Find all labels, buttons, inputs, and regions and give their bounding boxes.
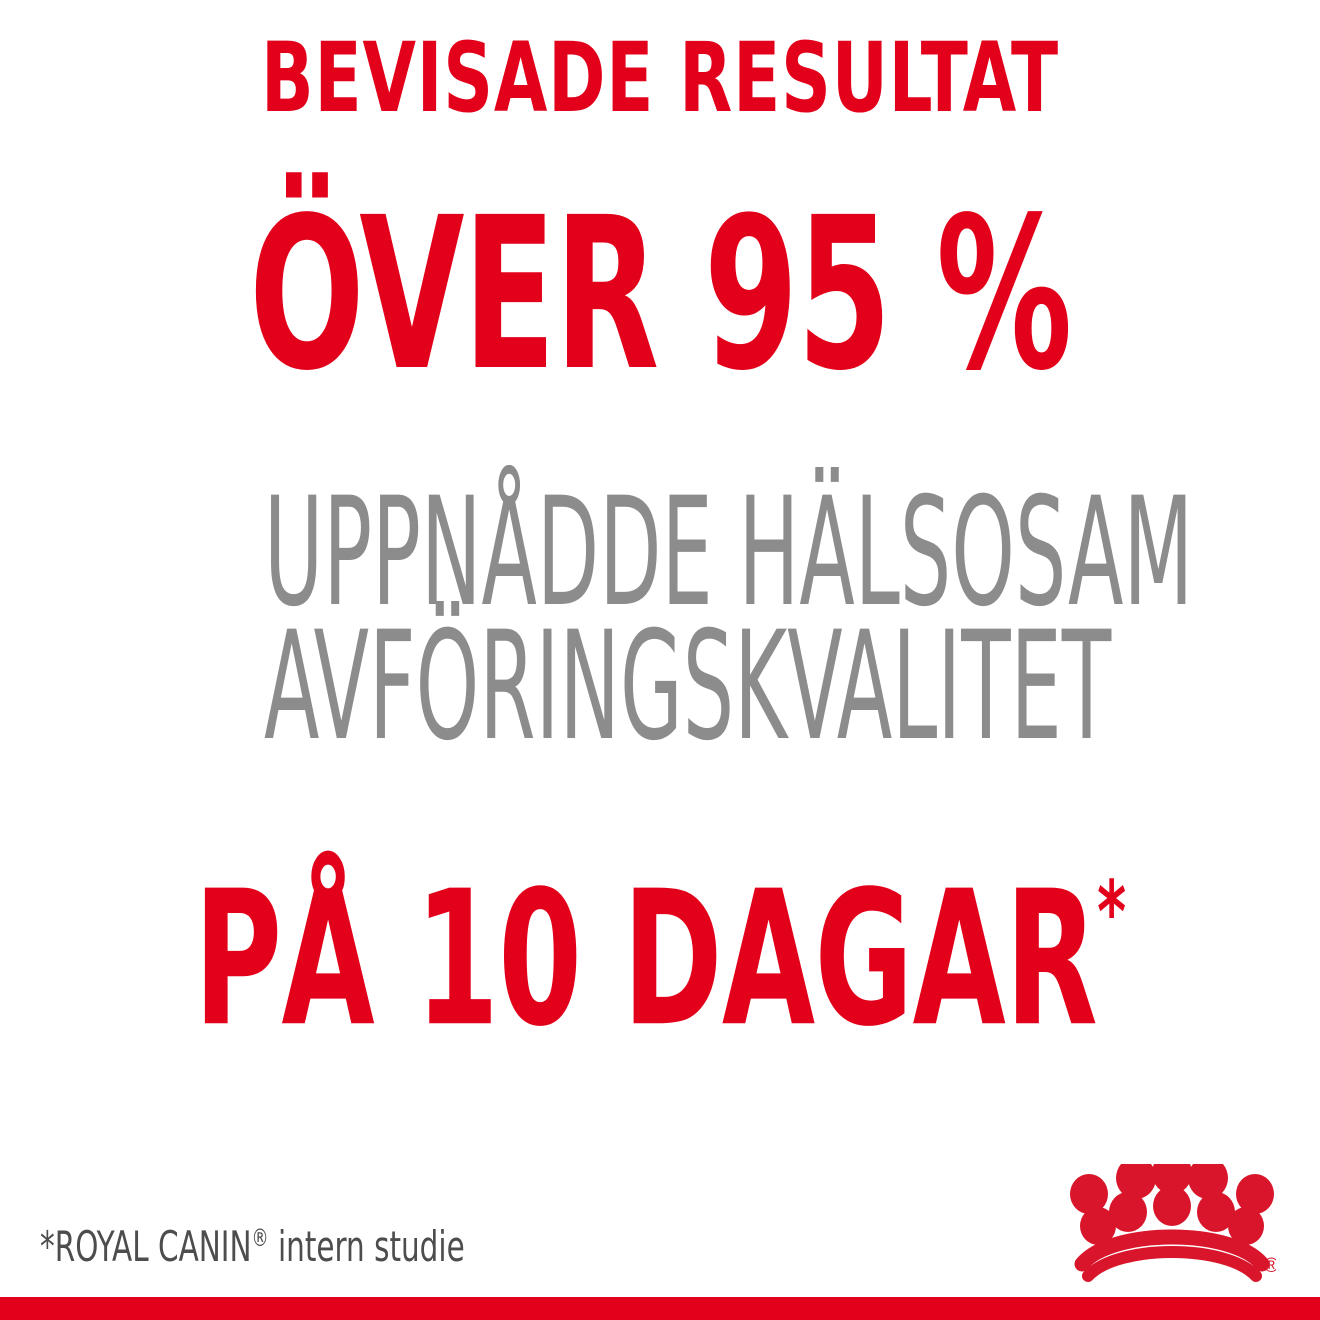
- claim-duration-line: PÅ 10 DAGAR*: [185, 826, 1135, 1047]
- crown-arcs-group: [1082, 1237, 1262, 1276]
- crown-dot-inner-1: [1109, 1192, 1147, 1232]
- poster-canvas: BEVISADE RESULTAT ÖVER 95 % UPPNÅDDE HÄL…: [0, 0, 1320, 1320]
- footnote-suffix: intern studie: [269, 1222, 465, 1271]
- claim-block: ÖVER 95 % UPPNÅDDE HÄLSOSAM AVFÖRINGSKVA…: [0, 196, 1320, 1047]
- footnote-source-text: *ROYAL CANIN® intern studie: [40, 1217, 465, 1268]
- footnote-asterisk-marker: *: [1097, 864, 1126, 963]
- crown-dot-inner-2: [1153, 1186, 1191, 1226]
- royal-canin-crown-logo: ®: [1068, 1164, 1276, 1282]
- crown-dot-top-1: [1070, 1174, 1108, 1214]
- crown-arc-lower: [1088, 1252, 1256, 1276]
- registered-trademark-icon: ®: [1264, 1255, 1276, 1277]
- claim-percentage-line: ÖVER 95 %: [185, 196, 1135, 394]
- registered-trademark-icon: ®: [252, 1223, 269, 1252]
- bottom-accent-bar: [0, 1297, 1320, 1320]
- claim-description-line-2: AVFÖRINGSKVALITET: [264, 620, 1056, 754]
- crown-dot-top-5: [1236, 1174, 1274, 1214]
- footnote-prefix: *ROYAL CANIN: [40, 1222, 252, 1271]
- crown-dot-inner-3: [1197, 1192, 1235, 1232]
- claim-duration-text: PÅ 10 DAGAR: [194, 850, 1097, 1067]
- page-eyebrow-heading: BEVISADE RESULTAT: [132, 28, 1188, 128]
